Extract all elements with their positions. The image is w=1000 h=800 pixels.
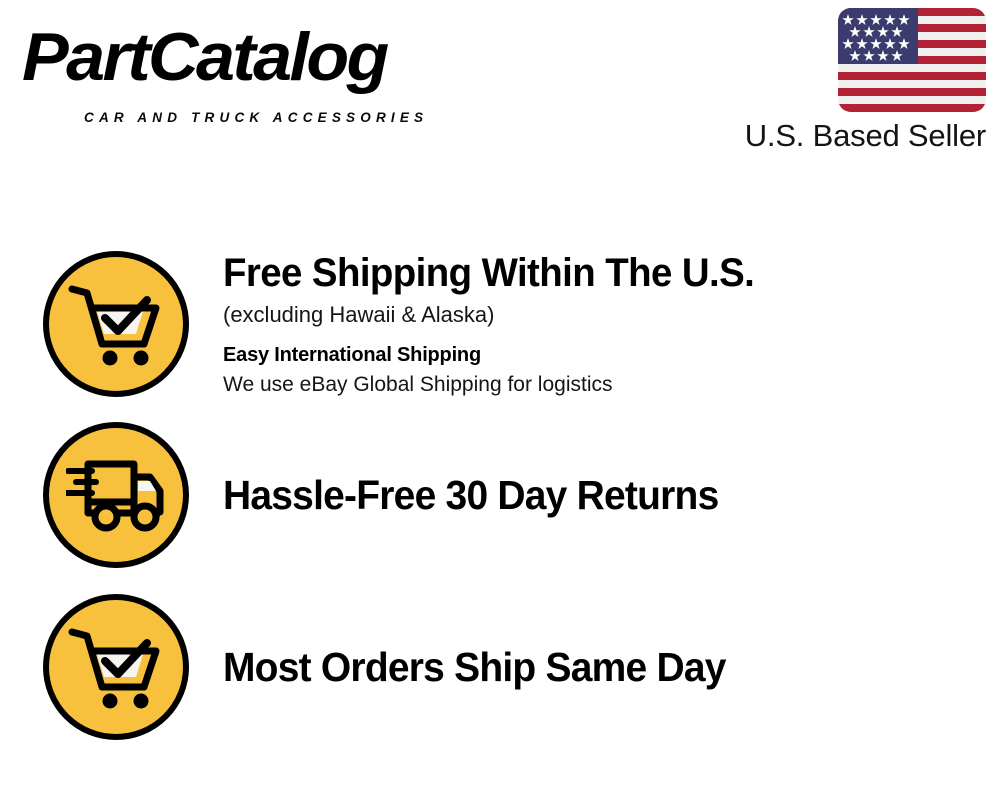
feature-title: Most Orders Ship Same Day xyxy=(223,643,942,691)
brand-tagline: CAR AND TRUCK ACCESSORIES xyxy=(84,110,428,125)
feature-note: (excluding Hawaii & Alaska) xyxy=(223,300,980,330)
us-based-seller-label: U.S. Based Seller xyxy=(686,118,986,154)
feature-title: Free Shipping Within The U.S. xyxy=(223,250,950,296)
feature-row: Free Shipping Within The U.S. (excluding… xyxy=(0,249,1000,399)
feature-text-block: Most Orders Ship Same Day xyxy=(223,643,1000,691)
cart-check-icon xyxy=(43,594,189,740)
feature-subtext: We use eBay Global Shipping for logistic… xyxy=(223,371,980,399)
us-flag-icon xyxy=(838,8,986,112)
fast-delivery-truck-icon xyxy=(43,422,189,568)
feature-subheading: Easy International Shipping xyxy=(223,342,980,368)
us-based-seller-badge: U.S. Based Seller xyxy=(686,8,986,154)
feature-text-block: Hassle-Free 30 Day Returns xyxy=(223,471,1000,519)
brand-wordmark: PartCatalog xyxy=(22,22,387,92)
feature-title: Hassle-Free 30 Day Returns xyxy=(223,471,942,519)
cart-check-icon xyxy=(43,251,189,397)
feature-row: Most Orders Ship Same Day xyxy=(0,592,1000,742)
feature-text-block: Free Shipping Within The U.S. (excluding… xyxy=(223,250,1000,399)
feature-row: Hassle-Free 30 Day Returns xyxy=(0,420,1000,570)
seller-banner-page: PartCatalog CAR AND TRUCK ACCESSORIES xyxy=(0,0,1000,800)
brand-logo: PartCatalog CAR AND TRUCK ACCESSORIES xyxy=(22,22,492,117)
